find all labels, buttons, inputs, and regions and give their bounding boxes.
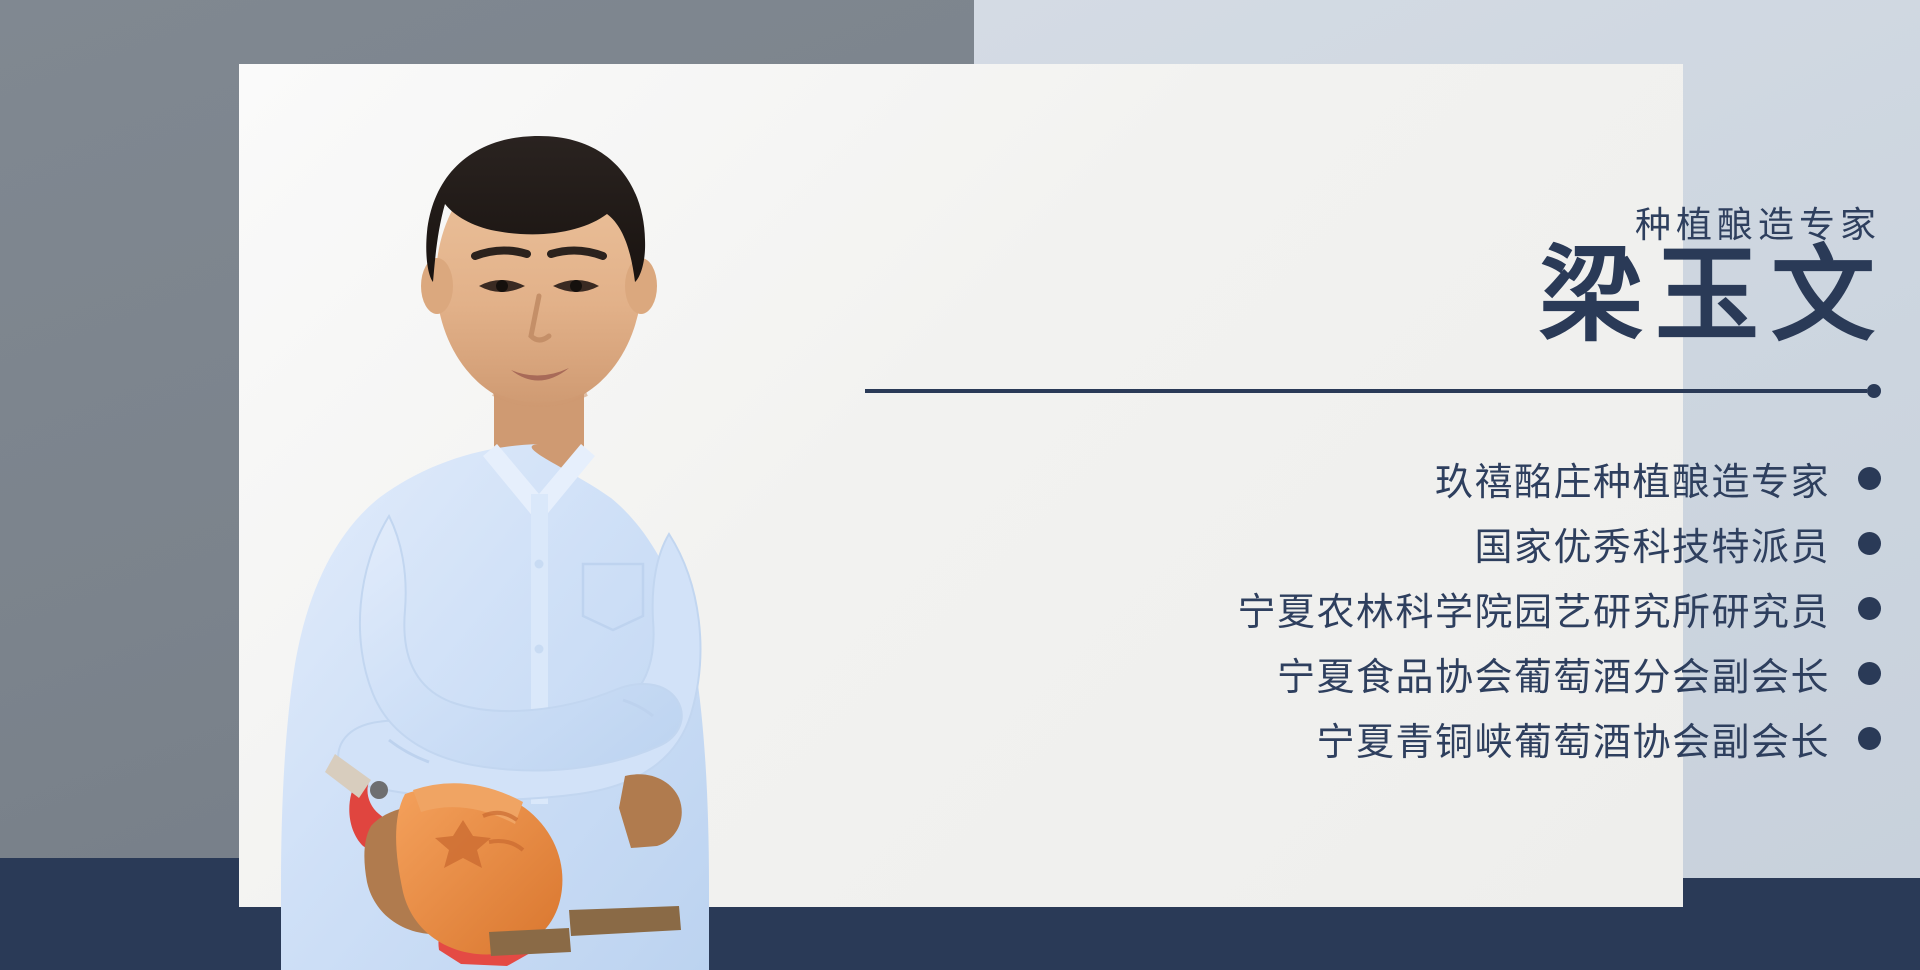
list-item: 玖禧酩庄种植酿造专家	[837, 446, 1881, 511]
list-item: 宁夏食品协会葡萄酒分会副会长	[837, 641, 1881, 706]
credentials-list: 玖禧酩庄种植酿造专家 国家优秀科技特派员 宁夏农林科学院园艺研究所研究员 宁夏食…	[837, 446, 1881, 771]
credential-label: 玖禧酩庄种植酿造专家	[1435, 451, 1830, 506]
bullet-dot-icon	[1858, 597, 1881, 620]
bullet-dot-icon	[1858, 532, 1881, 555]
portrait-photo	[239, 64, 839, 970]
card-content: 种植酿造专家 梁玉文 玖禧酩庄种植酿造专家 国家优秀科技特派员 宁夏农林科学院园…	[879, 64, 1920, 907]
list-item: 宁夏青铜峡葡萄酒协会副会长	[837, 706, 1881, 771]
bullet-dot-icon	[1858, 727, 1881, 750]
credential-label: 宁夏农林科学院园艺研究所研究员	[1237, 581, 1830, 636]
divider-line	[865, 389, 1867, 393]
profile-card: 种植酿造专家 梁玉文 玖禧酩庄种植酿造专家 国家优秀科技特派员 宁夏农林科学院园…	[239, 64, 1683, 907]
person-name: 梁玉文	[1539, 239, 1887, 355]
bullet-dot-icon	[1858, 662, 1881, 685]
bullet-dot-icon	[1858, 467, 1881, 490]
credential-label: 国家优秀科技特派员	[1474, 516, 1830, 571]
credential-label: 宁夏食品协会葡萄酒分会副会长	[1277, 646, 1830, 701]
divider-end-dot	[1867, 384, 1881, 398]
credential-label: 宁夏青铜峡葡萄酒协会副会长	[1316, 711, 1830, 766]
divider	[865, 384, 1881, 398]
list-item: 宁夏农林科学院园艺研究所研究员	[837, 576, 1881, 641]
list-item: 国家优秀科技特派员	[837, 511, 1881, 576]
poster-canvas: 种植酿造专家 梁玉文 玖禧酩庄种植酿造专家 国家优秀科技特派员 宁夏农林科学院园…	[0, 0, 1920, 970]
